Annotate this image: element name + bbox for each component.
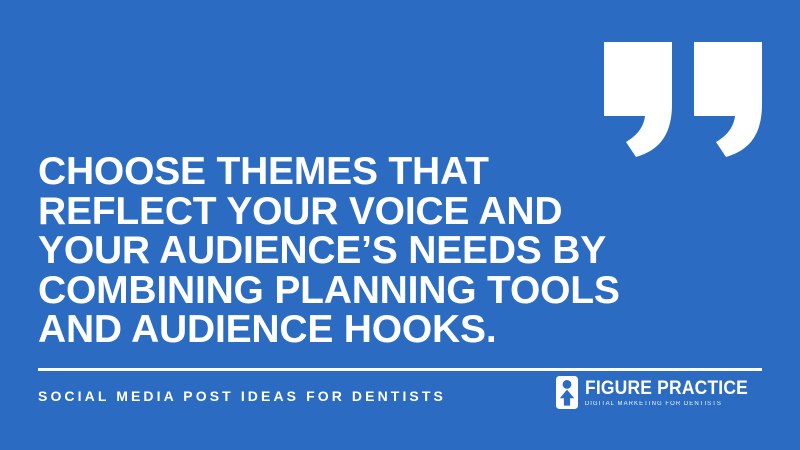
subtitle-text: Social Media Post Ideas For Dentists bbox=[38, 388, 446, 404]
logo-name: Figure Practice bbox=[585, 379, 748, 398]
figure-practice-mark-icon bbox=[556, 376, 578, 409]
quote-slide: CHOOSE THEMES THAT REFLECT YOUR VOICE AN… bbox=[0, 0, 800, 450]
brand-logo: Figure Practice Digital Marketing For De… bbox=[556, 376, 762, 409]
headline-text: CHOOSE THEMES THAT REFLECT YOUR VOICE AN… bbox=[38, 152, 638, 350]
closing-quote-icon bbox=[604, 42, 762, 157]
logo-wordmark: Figure Practice Digital Marketing For De… bbox=[585, 379, 762, 407]
divider-rule bbox=[38, 368, 762, 371]
logo-tagline: Digital Marketing For Dentists bbox=[585, 401, 762, 407]
